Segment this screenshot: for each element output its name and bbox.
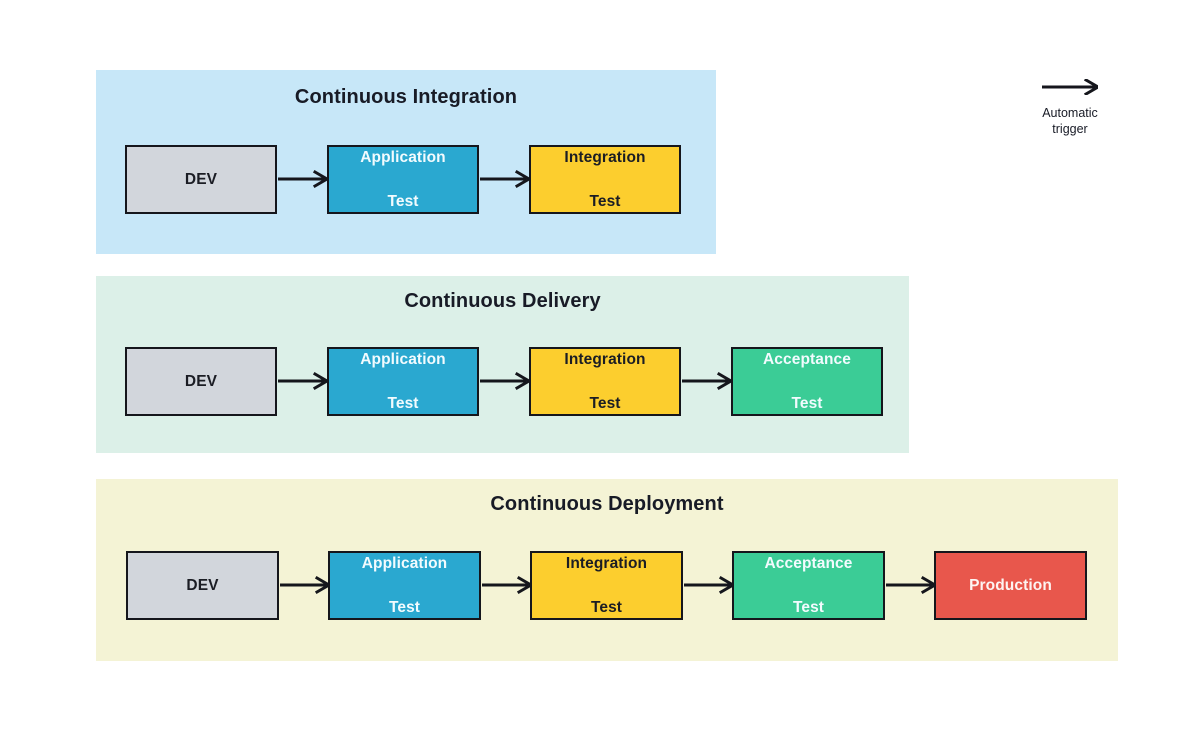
band-title-continuous-deployment: Continuous Deployment	[96, 493, 1118, 516]
node-continuous-delivery-acceptance-test[interactable]: AcceptanceTest	[731, 347, 883, 416]
node-continuous-integration-dev[interactable]: DEV	[125, 145, 277, 214]
legend-label: Automatictrigger	[1022, 106, 1118, 137]
legend-label-line2: trigger	[1052, 122, 1087, 136]
node-label-line2: Test	[535, 393, 675, 415]
node-label-line1: Acceptance	[737, 349, 877, 371]
node-label-line1: Acceptance	[738, 553, 879, 575]
node-label-line1: Application	[333, 349, 473, 371]
node-label-line1: Application	[334, 553, 475, 575]
band-title-continuous-integration: Continuous Integration	[96, 86, 716, 109]
band-title-continuous-delivery: Continuous Delivery	[96, 290, 909, 313]
node-label-line1: DEV	[131, 169, 271, 191]
node-label-line2: Test	[333, 191, 473, 213]
node-label-line2: Test	[334, 597, 475, 619]
node-label-line1: DEV	[132, 575, 273, 597]
legend-arrow-icon	[1042, 79, 1098, 100]
node-continuous-deployment-production[interactable]: Production	[934, 551, 1087, 620]
node-continuous-deployment-integration-test[interactable]: IntegrationTest	[530, 551, 683, 620]
node-label-line2: Test	[536, 597, 677, 619]
node-continuous-deployment-dev[interactable]: DEV	[126, 551, 279, 620]
node-label-line1: Integration	[536, 553, 677, 575]
legend-label-line1: Automatic	[1042, 106, 1098, 120]
node-label-line1: Integration	[535, 349, 675, 371]
node-label-line2: Test	[738, 597, 879, 619]
node-label-line2: Test	[737, 393, 877, 415]
node-continuous-integration-application-test[interactable]: ApplicationTest	[327, 145, 479, 214]
node-continuous-delivery-application-test[interactable]: ApplicationTest	[327, 347, 479, 416]
node-label-line1: Production	[940, 575, 1081, 597]
legend: Automatictrigger	[1022, 70, 1118, 150]
node-label-line1: DEV	[131, 371, 271, 393]
node-continuous-deployment-acceptance-test[interactable]: AcceptanceTest	[732, 551, 885, 620]
node-label-line2: Test	[535, 191, 675, 213]
node-continuous-delivery-integration-test[interactable]: IntegrationTest	[529, 347, 681, 416]
node-continuous-delivery-dev[interactable]: DEV	[125, 347, 277, 416]
node-continuous-deployment-application-test[interactable]: ApplicationTest	[328, 551, 481, 620]
node-continuous-integration-integration-test[interactable]: IntegrationTest	[529, 145, 681, 214]
node-label-line1: Application	[333, 147, 473, 169]
node-label-line1: Integration	[535, 147, 675, 169]
node-label-line2: Test	[333, 393, 473, 415]
